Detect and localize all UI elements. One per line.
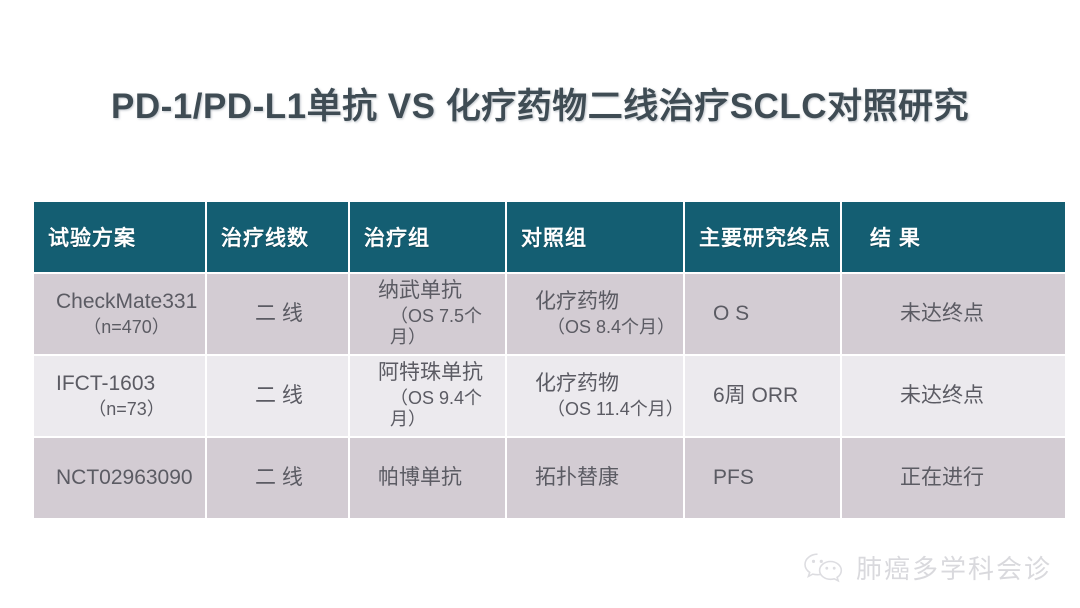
regimen-name: NCT02963090 bbox=[48, 466, 205, 491]
cell-control-arm: 化疗药物 （OS 11.4个月） bbox=[506, 355, 684, 437]
cell-line: 二 线 bbox=[206, 437, 349, 519]
cell-treatment-arm: 纳武单抗 （OS 7.5个月） bbox=[349, 273, 506, 355]
treatment-drug: 纳武单抗 bbox=[378, 279, 505, 304]
cell-treatment-arm: 阿特珠单抗 （OS 9.4个月） bbox=[349, 355, 506, 437]
cell-primary-endpoint: O S bbox=[684, 273, 841, 355]
line-of-therapy: 二 线 bbox=[255, 302, 348, 327]
column-header-regimen: 试验方案 bbox=[33, 201, 206, 273]
cell-control-arm: 化疗药物 （OS 8.4个月） bbox=[506, 273, 684, 355]
page-title: PD-1/PD-L1单抗 VS 化疗药物二线治疗SCLC对照研究 bbox=[0, 78, 1080, 129]
cell-regimen: IFCT-1603 （n=73） bbox=[33, 355, 206, 437]
regimen-name: IFCT-1603 bbox=[48, 372, 205, 397]
cell-line: 二 线 bbox=[206, 355, 349, 437]
cell-line: 二 线 bbox=[206, 273, 349, 355]
table-header-row: 试验方案 治疗线数 治疗组 对照组 主要研究终点 结 果 bbox=[33, 201, 1066, 273]
table-row: NCT02963090 二 线 帕博单抗 拓扑替康 PFS bbox=[33, 437, 1066, 519]
regimen-name: CheckMate331 bbox=[48, 290, 205, 315]
control-drug: 化疗药物 bbox=[535, 372, 683, 397]
wechat-account-name: 肺癌多学科会诊 bbox=[856, 549, 1052, 586]
clinical-trial-comparison-table: 试验方案 治疗线数 治疗组 对照组 主要研究终点 结 果 CheckMate33… bbox=[32, 200, 1067, 520]
cell-treatment-arm: 帕博单抗 bbox=[349, 437, 506, 519]
treatment-drug: 帕博单抗 bbox=[378, 466, 505, 491]
column-header-treatment-arm: 治疗组 bbox=[349, 201, 506, 273]
cell-result: 正在进行 bbox=[841, 437, 1066, 519]
line-of-therapy: 二 线 bbox=[255, 466, 348, 491]
footer-watermark: 肺癌多学科会诊 bbox=[802, 549, 1052, 586]
cell-regimen: CheckMate331 （n=470） bbox=[33, 273, 206, 355]
trial-result: 正在进行 bbox=[900, 466, 1065, 491]
trial-result: 未达终点 bbox=[900, 384, 1065, 409]
cell-primary-endpoint: PFS bbox=[684, 437, 841, 519]
control-drug: 化疗药物 bbox=[535, 290, 683, 315]
cell-result: 未达终点 bbox=[841, 273, 1066, 355]
regimen-sample-size: （n=73） bbox=[48, 399, 205, 420]
trial-result: 未达终点 bbox=[900, 302, 1065, 327]
control-drug: 拓扑替康 bbox=[535, 466, 683, 491]
line-of-therapy: 二 线 bbox=[255, 384, 348, 409]
primary-endpoint: O S bbox=[713, 302, 840, 327]
regimen-sample-size: （n=470） bbox=[48, 317, 205, 338]
cell-result: 未达终点 bbox=[841, 355, 1066, 437]
cell-regimen: NCT02963090 bbox=[33, 437, 206, 519]
treatment-os: （OS 9.4个月） bbox=[378, 388, 505, 430]
cell-control-arm: 拓扑替康 bbox=[506, 437, 684, 519]
treatment-os: （OS 7.5个月） bbox=[378, 306, 505, 348]
treatment-drug: 阿特珠单抗 bbox=[378, 361, 505, 386]
primary-endpoint: PFS bbox=[713, 466, 840, 491]
column-header-primary-endpoint: 主要研究终点 bbox=[684, 201, 841, 273]
column-header-result: 结 果 bbox=[841, 201, 1066, 273]
cell-primary-endpoint: 6周 ORR bbox=[684, 355, 841, 437]
table-row: IFCT-1603 （n=73） 二 线 阿特珠单抗 （OS 9.4个月） 化疗… bbox=[33, 355, 1066, 437]
wechat-icon bbox=[802, 551, 846, 585]
control-os: （OS 8.4个月） bbox=[535, 317, 683, 338]
table-row: CheckMate331 （n=470） 二 线 纳武单抗 （OS 7.5个月）… bbox=[33, 273, 1066, 355]
control-os: （OS 11.4个月） bbox=[535, 399, 683, 420]
column-header-line: 治疗线数 bbox=[206, 201, 349, 273]
primary-endpoint: 6周 ORR bbox=[713, 384, 840, 409]
column-header-control-arm: 对照组 bbox=[506, 201, 684, 273]
